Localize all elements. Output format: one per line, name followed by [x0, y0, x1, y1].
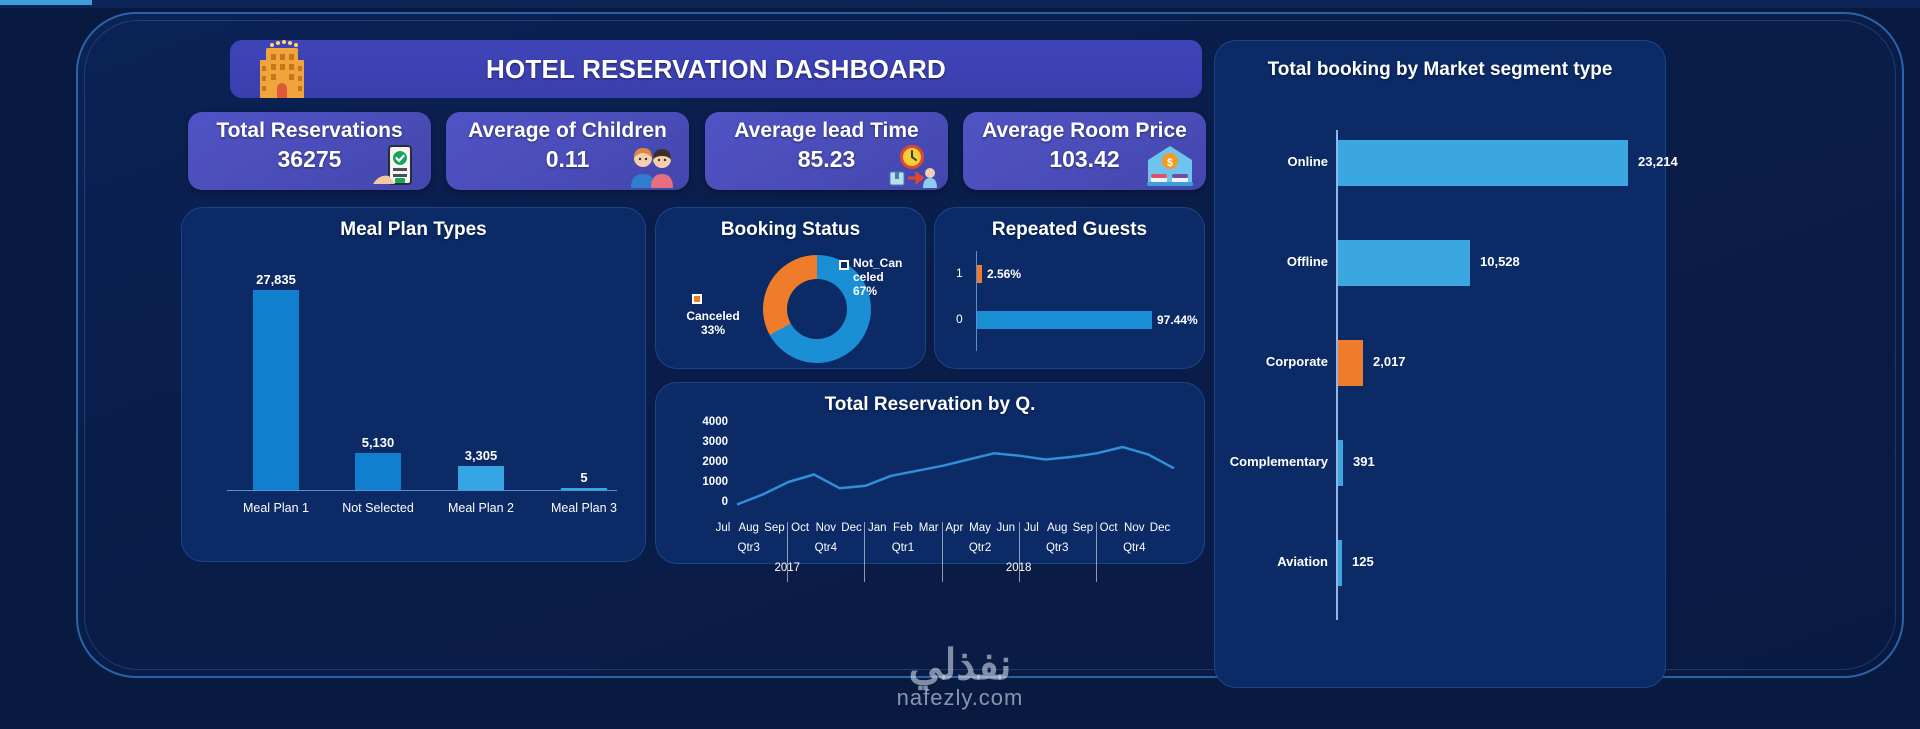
market-segment-row[interactable]: Aviation125 [1214, 540, 1666, 586]
line-chart-month-label: Nov [813, 522, 839, 534]
meal-plan-bar-value: 3,305 [426, 448, 536, 463]
repeated-guests-bar-value: 97.44% [1157, 313, 1198, 327]
line-chart-month-label: Jul [1018, 522, 1044, 534]
repeated-guests-category-label: 0 [956, 312, 963, 326]
line-chart-year-label: 2017 [765, 562, 809, 574]
meal-plan-category-label: Not Selected [318, 501, 438, 515]
repeated-guests-bar [977, 311, 1152, 329]
repeated-guests-row[interactable]: 097.44% [948, 311, 1193, 329]
meal-plan-axis [227, 490, 617, 491]
kpi-card-average-children[interactable]: Average of Children 0.11 [446, 112, 689, 190]
market-segment-row[interactable]: Complementary391 [1214, 440, 1666, 486]
booking-status-title: Booking Status [655, 207, 926, 241]
meal-plan-bar[interactable]: 5 [561, 488, 607, 490]
line-series [669, 422, 1194, 522]
meal-plan-panel: Meal Plan Types 27,835Meal Plan 15,130No… [181, 207, 646, 562]
line-chart-month-label: Apr [941, 522, 967, 534]
line-chart-quarter-label: Qtr4 [1114, 542, 1154, 554]
market-segment-category-label: Offline [1178, 254, 1328, 269]
meal-plan-chart: 27,835Meal Plan 15,130Not Selected3,305M… [205, 255, 625, 525]
line-chart-month-label: Jun [993, 522, 1019, 534]
line-chart-month-label: Dec [839, 522, 865, 534]
bar-fill [355, 453, 401, 490]
line-chart-month-label: Jan [864, 522, 890, 534]
meal-plan-bar-value: 5 [529, 470, 639, 485]
kpi-title: Total Reservations [188, 119, 431, 143]
meal-plan-category-label: Meal Plan 3 [524, 501, 644, 515]
market-segment-bar [1338, 440, 1343, 486]
kpi-title: Average of Children [446, 119, 689, 143]
line-chart-month-label: Sep [761, 522, 787, 534]
line-chart-month-label: Oct [787, 522, 813, 534]
market-segment-category-label: Online [1178, 154, 1328, 169]
line-chart-y-tick: 2000 [694, 456, 728, 468]
repeated-guests-row[interactable]: 12.56% [948, 265, 1193, 283]
line-chart-quarter-label: Qtr3 [1037, 542, 1077, 554]
line-chart-y-tick: 1000 [694, 476, 728, 488]
meal-plan-bar[interactable]: 3,305 [458, 466, 504, 490]
mobile-check-icon [367, 144, 423, 188]
legend-not-canceled-value: 67% [853, 285, 915, 299]
meal-plan-bar-value: 27,835 [221, 272, 331, 287]
kpi-card-average-lead-time[interactable]: Average lead Time 85.23 [705, 112, 948, 190]
line-chart-month-label: Nov [1121, 522, 1147, 534]
line-chart-year-label: 2018 [997, 562, 1041, 574]
market-segment-bar [1338, 140, 1628, 186]
repeated-guests-panel: Repeated Guests 12.56%097.44% [934, 207, 1205, 369]
line-chart-month-label: Jul [710, 522, 736, 534]
dashboard-title-bar: HOTEL RESERVATION DASHBOARD [230, 40, 1202, 98]
line-path [737, 447, 1174, 505]
line-chart-month-label: Aug [736, 522, 762, 534]
repeated-guests-bar-value: 2.56% [987, 267, 1021, 281]
repeated-guests-chart: 12.56%097.44% [948, 251, 1193, 359]
legend-swatch-canceled [692, 294, 702, 304]
kpi-title: Average Room Price [963, 119, 1206, 143]
legend-not-canceled: Not_Can celed 67% [853, 257, 915, 298]
quarter-tick-labels: Qtr3Qtr4Qtr1Qtr2Qtr3Qtr4 [723, 542, 1193, 562]
legend-not-canceled-label1: Not_Can [853, 257, 915, 271]
booking-status-panel: Booking Status Canceled 33% Not_Can cele… [655, 207, 926, 369]
top-strip-accent [0, 0, 92, 5]
legend-swatch-not-canceled [839, 260, 849, 270]
market-segment-title: Total booking by Market segment type [1214, 40, 1666, 82]
year-tick-labels: 20172018 [723, 562, 1193, 580]
meal-plan-bar-value: 5,130 [323, 435, 433, 450]
market-segment-bar [1338, 240, 1470, 286]
line-chart-month-label: May [967, 522, 993, 534]
children-icon [625, 144, 681, 188]
watermark-latin: nafezly.com [0, 685, 1920, 711]
line-chart-month-label: Oct [1096, 522, 1122, 534]
line-chart-month-label: Mar [916, 522, 942, 534]
meal-plan-bar[interactable]: 5,130 [355, 453, 401, 490]
bar-fill [253, 290, 299, 490]
month-tick-labels: JulAugSepOctNovDecJanFebMarAprMayJunJulA… [723, 522, 1193, 544]
line-chart-month-label: Feb [890, 522, 916, 534]
reservation-by-quarter-panel: Total Reservation by Q. 4000300020001000… [655, 382, 1205, 564]
repeated-guests-title: Repeated Guests [934, 207, 1205, 241]
market-segment-bar-value: 391 [1353, 454, 1375, 469]
line-chart-month-label: Dec [1147, 522, 1173, 534]
market-segment-bar-value: 2,017 [1373, 354, 1406, 369]
dashboard-frame: HOTEL RESERVATION DASHBOARD Total Reserv… [76, 12, 1904, 678]
legend-canceled: Canceled 33% [677, 310, 749, 338]
market-segment-chart: Online23,214Offline10,528Corporate2,017C… [1214, 130, 1666, 650]
legend-not-canceled-label2: celed [853, 271, 915, 285]
page-title: HOTEL RESERVATION DASHBOARD [230, 54, 1202, 85]
repeated-guests-bar [977, 265, 982, 283]
reservation-by-quarter-title: Total Reservation by Q. [655, 382, 1205, 416]
bar-fill [561, 488, 607, 490]
market-segment-category-label: Complementary [1178, 454, 1328, 469]
legend-canceled-label: Canceled [677, 310, 749, 324]
line-chart-quarter-label: Qtr2 [960, 542, 1000, 554]
market-segment-row[interactable]: Offline10,528 [1214, 240, 1666, 286]
top-strip [0, 0, 1920, 8]
clock-delivery-icon [884, 144, 940, 188]
repeated-guests-category-label: 1 [956, 266, 963, 280]
line-chart-y-tick: 0 [694, 496, 728, 508]
market-segment-bar-value: 10,528 [1480, 254, 1520, 269]
meal-plan-title: Meal Plan Types [181, 207, 646, 241]
market-segment-bar-value: 125 [1352, 554, 1374, 569]
meal-plan-category-label: Meal Plan 2 [421, 501, 541, 515]
kpi-title: Average lead Time [705, 119, 948, 143]
svg-text:$: $ [1167, 157, 1173, 169]
hotel-icon [254, 34, 310, 102]
meal-plan-bar[interactable]: 27,835 [253, 290, 299, 490]
line-chart-y-tick: 4000 [694, 416, 728, 428]
market-segment-category-label: Corporate [1178, 354, 1328, 369]
kpi-card-average-room-price[interactable]: Average Room Price 103.42 $ [963, 112, 1206, 190]
reservation-by-quarter-chart: 40003000200010000 [669, 422, 1194, 522]
market-segment-bar [1338, 540, 1342, 586]
market-segment-row[interactable]: Corporate2,017 [1214, 340, 1666, 386]
market-segment-row[interactable]: Online23,214 [1214, 140, 1666, 186]
market-segment-panel: Total booking by Market segment type Onl… [1214, 40, 1666, 688]
line-chart-y-tick: 3000 [694, 436, 728, 448]
line-chart-quarter-label: Qtr4 [806, 542, 846, 554]
kpi-card-total-reservations[interactable]: Total Reservations 36275 [188, 112, 431, 190]
market-segment-bar [1338, 340, 1363, 386]
legend-canceled-value: 33% [677, 324, 749, 338]
line-chart-month-label: Aug [1044, 522, 1070, 534]
line-chart-quarter-label: Qtr1 [883, 542, 923, 554]
market-segment-bar-value: 23,214 [1638, 154, 1678, 169]
line-chart-quarter-label: Qtr3 [729, 542, 769, 554]
market-segment-category-label: Aviation [1178, 554, 1328, 569]
line-chart-month-label: Sep [1070, 522, 1096, 534]
bar-fill [458, 466, 504, 490]
